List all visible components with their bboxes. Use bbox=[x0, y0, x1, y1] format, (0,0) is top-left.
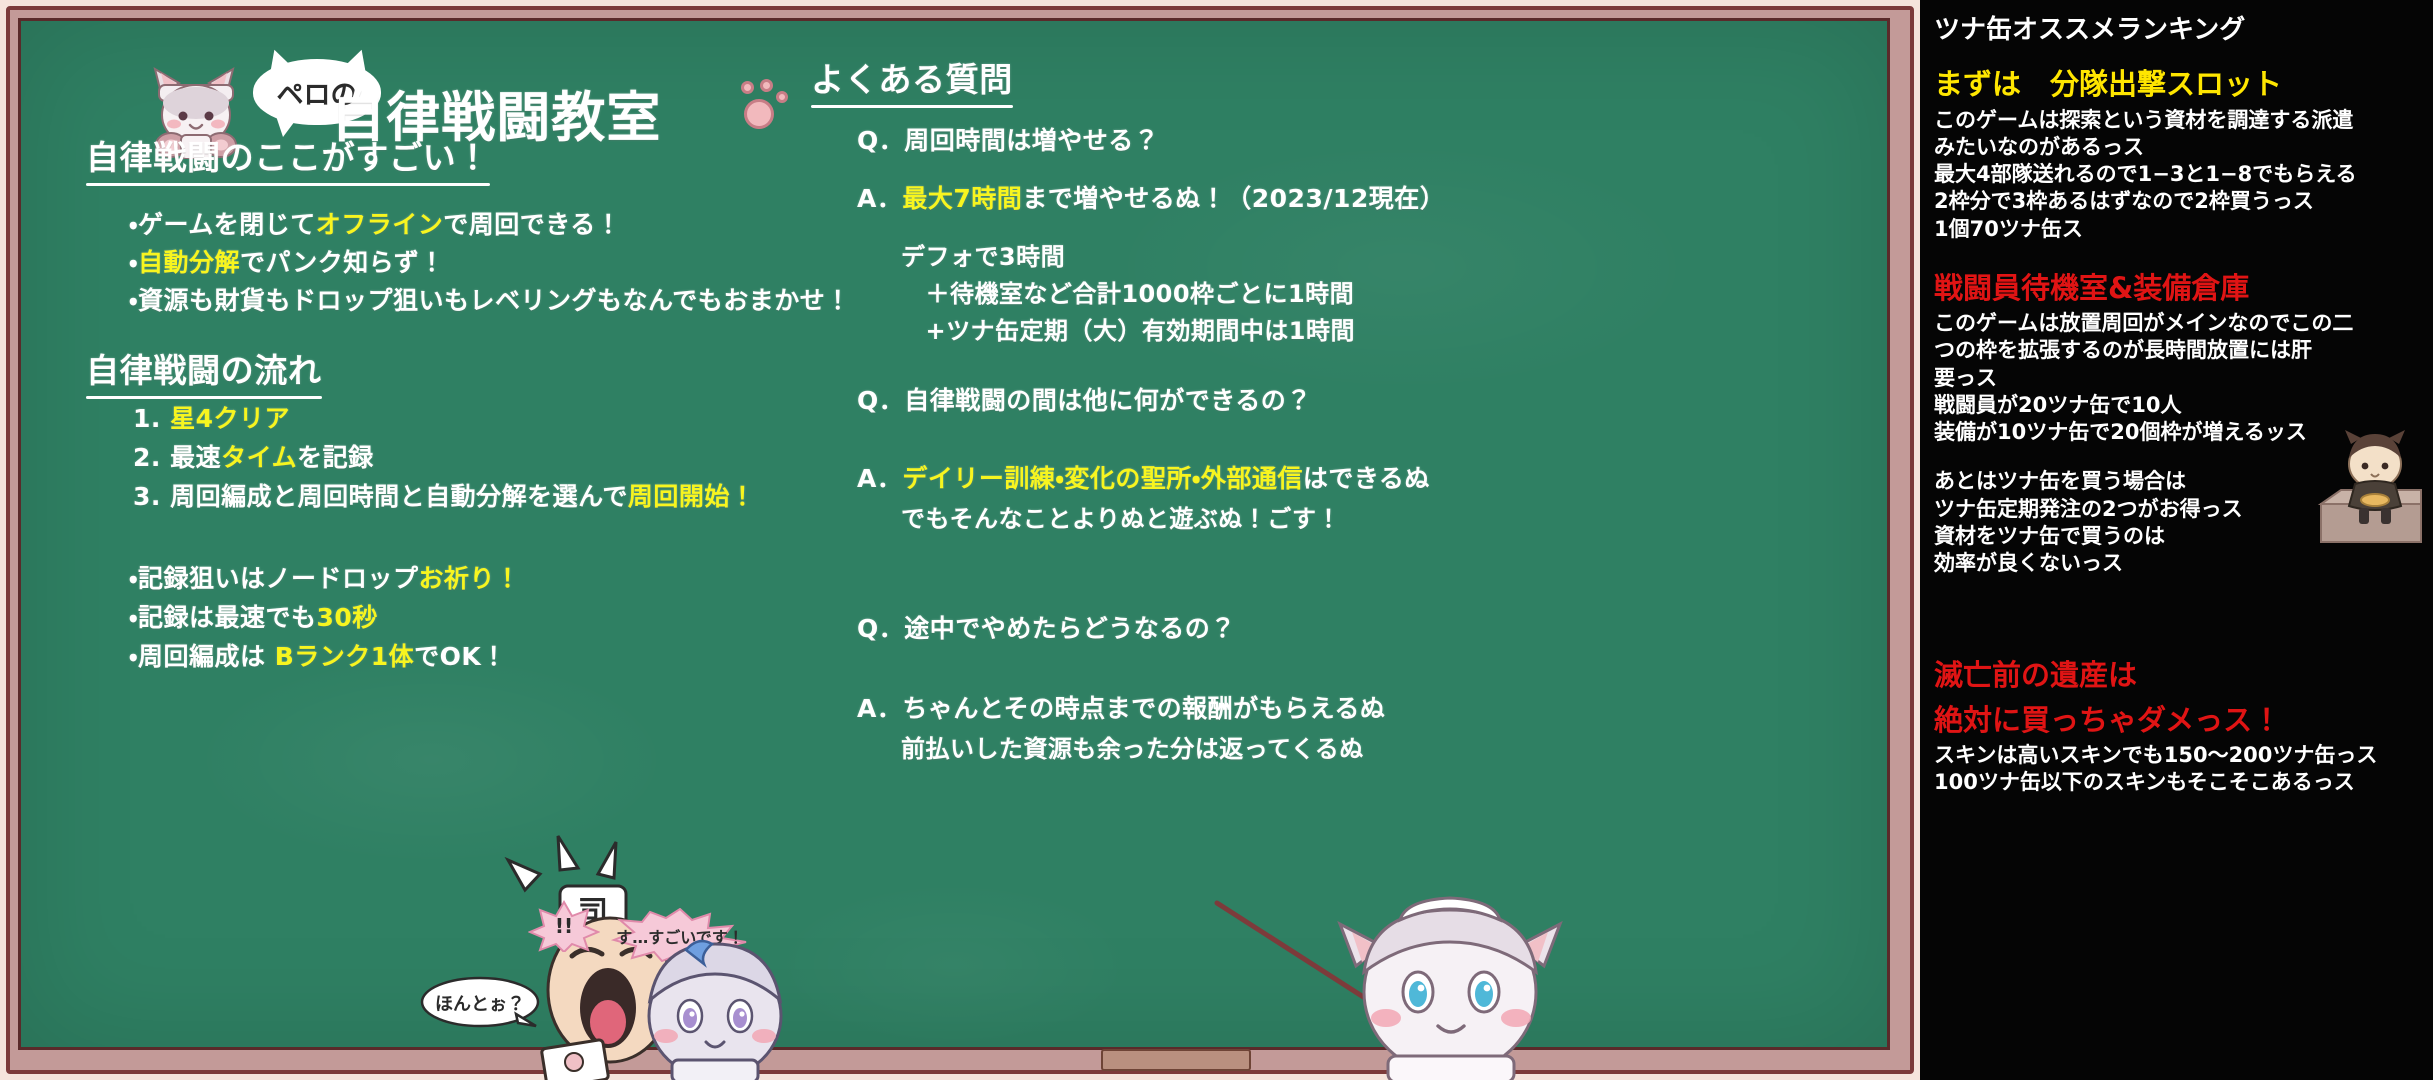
sidebar-panel: ツナ缶オススメランキング まずは 分隊出撃スロット このゲームは探索という資材を… bbox=[1920, 0, 2433, 1080]
sidebar-block-2-line-2: つの枠を拡張するのが長時間放置には肝 bbox=[1934, 337, 2421, 364]
faq-a-3-rest: ちゃんとその時点までの報酬がもらえるぬ bbox=[902, 694, 1385, 723]
faq-a-2: A．デイリー訓練・変化の聖所・外部通信はできるぬ bbox=[857, 459, 1430, 495]
flow-step-3-pre: 周回編成と周回時間と自動分解を選んで bbox=[170, 482, 628, 511]
doodle-bubble-hontoo: ほんとぉ？ bbox=[420, 976, 540, 1028]
flow-note-2-pre: ・記録は最速でも bbox=[129, 603, 317, 632]
faq-a-1-label: A． bbox=[857, 184, 902, 213]
good-bullet-1: ・ゲームを閉じてオフラインで周回できる！ bbox=[129, 205, 621, 241]
faq-a-2-label: A． bbox=[857, 464, 902, 493]
sidebar-block-1-heading: まずは 分隊出撃スロット bbox=[1934, 61, 2421, 103]
flow-step-2-hl: タイム bbox=[221, 443, 297, 472]
sidebar-block-2: 戦闘員待機室&装備倉庫 このゲームは放置周回がメインなのでこの二 つの枠を拡張す… bbox=[1934, 265, 2421, 446]
faq-q-2: Q．自律戦闘の間は他に何ができるの？ bbox=[857, 381, 1312, 417]
flow-step-2: 2. 最速タイムを記録 bbox=[133, 438, 374, 474]
maid-character-doodle bbox=[1330, 880, 1580, 1080]
paw-print-icon bbox=[738, 79, 796, 137]
chalk-tray bbox=[1101, 1049, 1251, 1071]
page-root: ペロの 自律戦闘教室 自律戦闘のここがすごい！ ・ゲームを閉じてオフラインで周回… bbox=[0, 0, 2433, 1080]
sidebar-block-1-line-4: 2枠分で3枠あるはずなので2枠買うっス bbox=[1934, 188, 2421, 215]
flow-step-1-hl: 星4クリア bbox=[170, 404, 290, 433]
sidebar-block-4: 滅亡前の遺産は 絶対に買っちゃダメっス！ スキンは高いスキンでも150〜200ツ… bbox=[1934, 652, 2421, 797]
chalkboard-area: ペロの 自律戦闘教室 自律戦闘のここがすごい！ ・ゲームを閉じてオフラインで周回… bbox=[0, 0, 1920, 1080]
flow-step-3: 3. 周回編成と周回時間と自動分解を選んで周回開始！ bbox=[133, 477, 755, 513]
good-bullet-2: ・自動分解でパンク知らず！ bbox=[129, 243, 445, 279]
sidebar-block-4-heading2: 絶対に買っちゃダメっス！ bbox=[1934, 697, 2421, 739]
good-bullet-1-post: で周回できる！ bbox=[443, 210, 621, 239]
faq-title: よくある質問 bbox=[811, 53, 1013, 108]
flow-note-3-hl: Bランク1体 bbox=[275, 642, 414, 671]
faq-a-2-detail-1: でもそんなことよりぬと遊ぶぬ！ごす！ bbox=[901, 499, 1341, 534]
good-bullet-1-pre: ・ゲームを閉じて bbox=[129, 210, 316, 239]
sidebar-block-4-heading: 滅亡前の遺産は bbox=[1934, 652, 2421, 694]
flow-note-1-pre: ・記録狙いはノードロップ bbox=[129, 564, 419, 593]
sidebar-block-2-line-3: 要っス bbox=[1934, 365, 2421, 392]
faq-a-1-detail-3: +ツナ缶定期（大）有効期間中は1時間 bbox=[901, 311, 1355, 346]
sidebar-block-1: まずは 分隊出撃スロット このゲームは探索という資材を調達する派遣 みたいなのが… bbox=[1934, 61, 2421, 243]
flow-note-1: ・記録狙いはノードロップお祈り！ bbox=[129, 559, 521, 595]
sidebar-block-1-line-3: 最大4部隊送れるので1−3と1−8でもらえる bbox=[1934, 161, 2421, 188]
sidebar-block-1-line-5: 1個70ツナ缶ス bbox=[1934, 216, 2421, 243]
flow-note-3-post: でOK！ bbox=[414, 642, 507, 671]
doodle-bubble-excl: !! bbox=[528, 900, 600, 952]
flow-step-2-num: 2. bbox=[133, 443, 161, 472]
doodle-bubble-hontoo-text: ほんとぉ？ bbox=[420, 990, 540, 1016]
flow-note-3: ・周回編成は Bランク1体でOK！ bbox=[129, 637, 507, 673]
faq-a-2-hl: デイリー訓練・変化の聖所・外部通信 bbox=[902, 464, 1303, 493]
sidebar-block-1-line-1: このゲームは探索という資材を調達する派遣 bbox=[1934, 107, 2421, 134]
faq-q-1: Q．周回時間は増やせる？ bbox=[857, 121, 1159, 157]
flow-step-3-hl: 周回開始！ bbox=[628, 482, 756, 511]
sidebar-block-1-line-2: みたいなのがあるっス bbox=[1934, 134, 2421, 161]
sidebar-block-3-line-4: 効率が良くないっス bbox=[1934, 550, 2421, 577]
faq-a-1-detail-1: デフォで3時間 bbox=[901, 237, 1065, 272]
spacer-1 bbox=[1934, 243, 2421, 265]
chalkboard-surface: ペロの 自律戦闘教室 自律戦闘のここがすごい！ ・ゲームを閉じてオフラインで周回… bbox=[18, 18, 1890, 1050]
sidebar-block-4-line-2: 100ツナ缶以下のスキンもそこそこあるっス bbox=[1934, 769, 2421, 796]
flow-note-1-hl: お祈り！ bbox=[419, 564, 521, 593]
chibi-character-on-box-icon bbox=[2315, 430, 2427, 550]
good-bullet-3: ・資源も財貨もドロップ狙いもレベリングもなんでもおまかせ！ bbox=[129, 281, 851, 317]
faq-q-3: Q．途中でやめたらどうなるの？ bbox=[857, 609, 1236, 645]
faq-a-1-hl: 最大7時間 bbox=[902, 184, 1022, 213]
good-bullet-2-post: でパンク知らず！ bbox=[240, 248, 445, 277]
flow-step-2-post: を記録 bbox=[297, 443, 374, 472]
faq-a-2-rest: はできるぬ bbox=[1303, 464, 1430, 493]
sidebar-block-4-line-1: スキンは高いスキンでも150〜200ツナ缶っス bbox=[1934, 742, 2421, 769]
flow-step-3-num: 3. bbox=[133, 482, 161, 511]
faq-a-3: A．ちゃんとその時点までの報酬がもらえるぬ bbox=[857, 689, 1385, 725]
doodle-bubble-excl-text: !! bbox=[528, 914, 600, 938]
blue-hair-character-doodle bbox=[620, 920, 810, 1080]
flow-note-2-hl: 30秒 bbox=[317, 603, 378, 632]
good-bullet-3-pre: ・資源も財貨もドロップ狙いもレベリングもなんでもおまかせ！ bbox=[129, 286, 851, 315]
faq-a-1-rest: まで増やせるぬ！（2023/12現在） bbox=[1022, 184, 1445, 213]
sidebar-block-2-line-4: 戦闘員が20ツナ缶で10人 bbox=[1934, 392, 2421, 419]
flow-step-2-pre: 最速 bbox=[170, 443, 221, 472]
sidebar-title: ツナ缶オススメランキング bbox=[1934, 14, 2421, 47]
faq-a-3-detail-1: 前払いした資源も余った分は返ってくるぬ bbox=[901, 729, 1364, 764]
good-bullet-2-hl: 自動分解 bbox=[138, 248, 240, 277]
good-bullet-2-pre: ・ bbox=[129, 248, 138, 277]
section-title-good-points: 自律戦闘のここがすごい！ bbox=[86, 131, 490, 186]
good-bullet-1-hl: オフライン bbox=[316, 210, 444, 239]
faq-a-1: A．最大7時間まで増やせるぬ！（2023/12現在） bbox=[857, 179, 1445, 215]
section-title-flow: 自律戦闘の流れ bbox=[86, 344, 322, 399]
faq-a-1-detail-2: ＋待機室など合計1000枠ごとに1時間 bbox=[901, 274, 1354, 309]
faq-a-3-label: A． bbox=[857, 694, 902, 723]
flow-note-3-pre: ・周回編成は bbox=[129, 642, 275, 671]
spacer-3 bbox=[1934, 578, 2421, 652]
flow-step-1-num: 1. bbox=[133, 404, 161, 433]
sidebar-block-2-heading: 戦闘員待機室&装備倉庫 bbox=[1934, 265, 2421, 307]
sidebar-block-2-line-1: このゲームは放置周回がメインなのでこの二 bbox=[1934, 310, 2421, 337]
flow-note-2: ・記録は最速でも30秒 bbox=[129, 598, 378, 634]
flow-step-1: 1. 星4クリア bbox=[133, 399, 290, 435]
